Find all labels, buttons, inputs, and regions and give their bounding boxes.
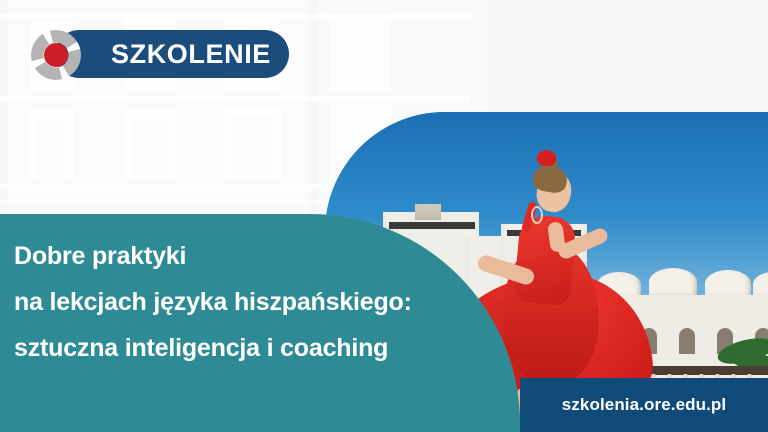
- red-flower-hair-accessory: [537, 150, 556, 166]
- promo-banner: Dobre praktyki na lekcjach języka hiszpa…: [0, 0, 768, 432]
- roof-line-1: [389, 222, 475, 229]
- title-line-3: sztuczna inteligencja i coaching: [14, 325, 514, 371]
- szkolenie-badge: SZKOLENIE: [55, 30, 289, 78]
- badge-label: SZKOLENIE: [111, 39, 271, 70]
- roof-cap: [415, 204, 441, 220]
- page-title: Dobre praktyki na lekcjach języka hiszpa…: [14, 233, 514, 371]
- logo-center-dot: [44, 43, 68, 67]
- earring: [531, 206, 543, 224]
- footer-url-bar[interactable]: szkolenia.ore.edu.pl: [520, 378, 768, 432]
- title-line-1: Dobre praktyki: [14, 233, 514, 279]
- title-line-2: na lekcjach języka hiszpańskiego:: [14, 279, 514, 325]
- dome-3: [705, 270, 751, 297]
- target-bullseye-icon: [31, 30, 81, 80]
- website-url[interactable]: szkolenia.ore.edu.pl: [562, 395, 727, 415]
